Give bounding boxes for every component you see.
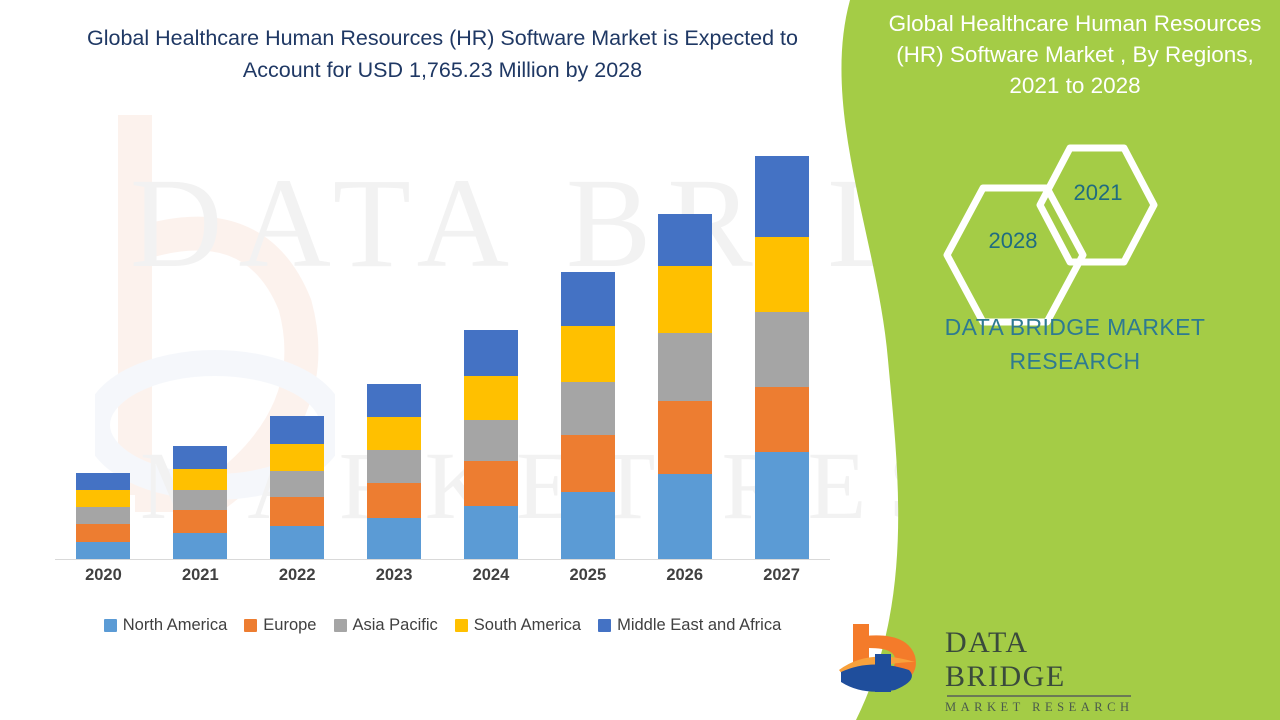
bar-segment[interactable]: [76, 473, 130, 490]
bar-segment[interactable]: [561, 382, 615, 436]
stacked-bar-2024[interactable]: [464, 330, 518, 559]
bar-segment[interactable]: [464, 330, 518, 376]
bar-segment[interactable]: [367, 417, 421, 450]
bar-slot: [55, 130, 152, 559]
x-axis-line: [55, 559, 830, 560]
bar-segment[interactable]: [367, 450, 421, 482]
legend-label: Middle East and Africa: [617, 616, 781, 635]
bar-segment[interactable]: [173, 469, 227, 491]
bar-segment[interactable]: [76, 542, 130, 559]
stacked-bar-2021[interactable]: [173, 446, 227, 559]
legend-swatch-icon: [598, 619, 611, 632]
legend-label: Europe: [263, 616, 316, 635]
legend-label: North America: [123, 616, 228, 635]
bar-segment[interactable]: [561, 435, 615, 492]
bars-container: [55, 130, 830, 559]
bar-slot: [152, 130, 249, 559]
legend-item[interactable]: North America: [104, 616, 228, 635]
bar-segment[interactable]: [658, 214, 712, 266]
legend-swatch-icon: [455, 619, 468, 632]
chart-legend: North AmericaEuropeAsia PacificSouth Ame…: [55, 616, 830, 635]
x-axis-label-2020: 2020: [55, 566, 152, 585]
legend-swatch-icon: [104, 619, 117, 632]
bar-segment[interactable]: [755, 387, 809, 452]
stacked-bar-2023[interactable]: [367, 384, 421, 559]
bar-segment[interactable]: [755, 312, 809, 387]
bar-segment[interactable]: [270, 497, 324, 526]
chart-title: Global Healthcare Human Resources (HR) S…: [55, 22, 830, 86]
legend-label: South America: [474, 616, 581, 635]
bar-segment[interactable]: [76, 490, 130, 507]
bar-segment[interactable]: [755, 452, 809, 560]
legend-item[interactable]: South America: [455, 616, 581, 635]
x-axis-label-2027: 2027: [733, 566, 830, 585]
bar-slot: [733, 130, 830, 559]
stacked-bar-2027[interactable]: [755, 156, 809, 559]
bar-segment[interactable]: [173, 533, 227, 559]
bar-segment[interactable]: [270, 471, 324, 497]
x-axis-label-2021: 2021: [152, 566, 249, 585]
bar-segment[interactable]: [658, 401, 712, 474]
x-axis-label-2025: 2025: [539, 566, 636, 585]
right-green-panel: Global Healthcare Human Resources (HR) S…: [820, 0, 1280, 720]
bar-segment[interactable]: [658, 474, 712, 559]
legend-item[interactable]: Asia Pacific: [334, 616, 438, 635]
bar-segment[interactable]: [367, 483, 421, 518]
bar-segment[interactable]: [561, 272, 615, 326]
bar-slot: [346, 130, 443, 559]
bar-slot: [636, 130, 733, 559]
bar-slot: [539, 130, 636, 559]
legend-item[interactable]: Europe: [244, 616, 316, 635]
bar-segment[interactable]: [76, 524, 130, 542]
bar-segment[interactable]: [367, 518, 421, 559]
bar-segment[interactable]: [561, 492, 615, 559]
bar-segment[interactable]: [173, 510, 227, 534]
bar-segment[interactable]: [755, 156, 809, 237]
bar-segment[interactable]: [464, 376, 518, 420]
legend-label: Asia Pacific: [353, 616, 438, 635]
bar-segment[interactable]: [464, 420, 518, 461]
legend-swatch-icon: [244, 619, 257, 632]
legend-item[interactable]: Middle East and Africa: [598, 616, 781, 635]
x-axis-label-2023: 2023: [346, 566, 443, 585]
bar-segment[interactable]: [464, 461, 518, 506]
bar-slot: [443, 130, 540, 559]
bar-segment[interactable]: [755, 237, 809, 312]
stacked-bar-2026[interactable]: [658, 214, 712, 559]
bar-segment[interactable]: [270, 526, 324, 559]
x-axis-label-2024: 2024: [443, 566, 540, 585]
bar-segment[interactable]: [76, 507, 130, 523]
bar-segment[interactable]: [658, 266, 712, 334]
bar-segment[interactable]: [464, 506, 518, 559]
slide-root: DATA BRIDGE MARKET RESEARCH Global Healt…: [0, 0, 1280, 720]
bar-segment[interactable]: [270, 416, 324, 444]
bar-slot: [249, 130, 346, 559]
bar-segment[interactable]: [173, 446, 227, 469]
green-panel-shape: [820, 0, 1280, 720]
legend-swatch-icon: [334, 619, 347, 632]
x-axis-labels: 20202021202220232024202520262027: [55, 566, 830, 585]
stacked-bar-2025[interactable]: [561, 272, 615, 559]
chart-plot-area: [55, 130, 830, 560]
stacked-bar-2022[interactable]: [270, 416, 324, 559]
bar-segment[interactable]: [270, 444, 324, 471]
bar-segment[interactable]: [173, 490, 227, 509]
x-axis-label-2026: 2026: [636, 566, 733, 585]
bar-segment[interactable]: [658, 333, 712, 401]
x-axis-label-2022: 2022: [249, 566, 346, 585]
bar-segment[interactable]: [367, 384, 421, 417]
stacked-bar-2020[interactable]: [76, 473, 130, 559]
bar-segment[interactable]: [561, 326, 615, 382]
